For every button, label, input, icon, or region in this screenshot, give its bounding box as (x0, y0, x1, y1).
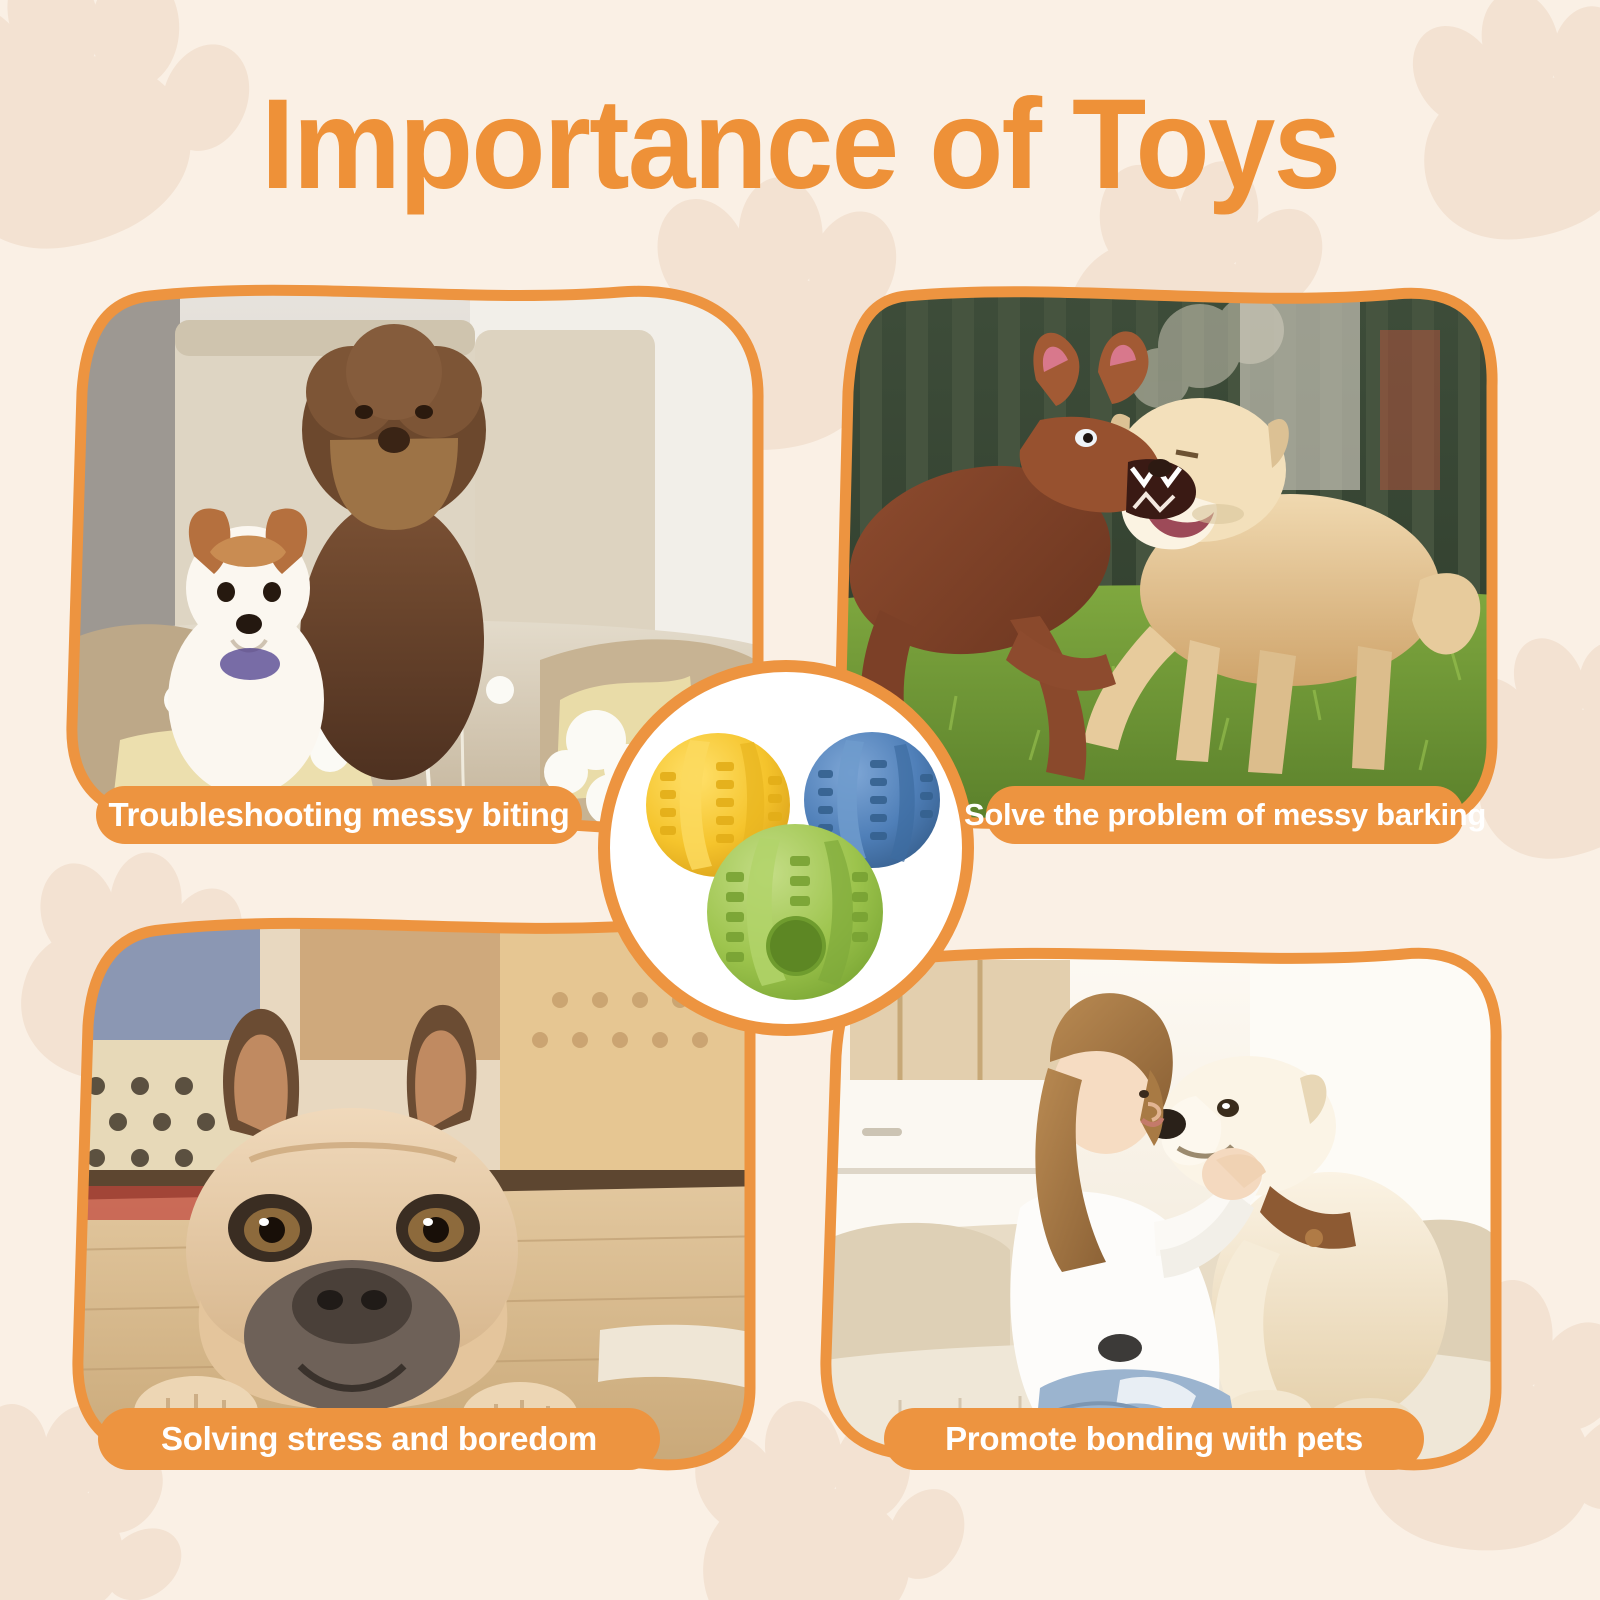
green-chew-ball (707, 824, 883, 1000)
label-troubleshooting-messy-biting: Troubleshooting messy biting (96, 786, 582, 844)
label-promote-bonding: Promote bonding with pets (884, 1408, 1424, 1470)
page-title: Importance of Toys (40, 78, 1560, 212)
center-product-circle (604, 666, 968, 1030)
label-solve-messy-barking: Solve the problem of messy barking (986, 786, 1464, 844)
infographic-canvas: Importance of Toys Troubleshooting messy… (0, 0, 1600, 1600)
label-solving-stress-boredom: Solving stress and boredom (98, 1408, 660, 1470)
woman-bonding-with-dog-photo (820, 940, 1510, 1480)
